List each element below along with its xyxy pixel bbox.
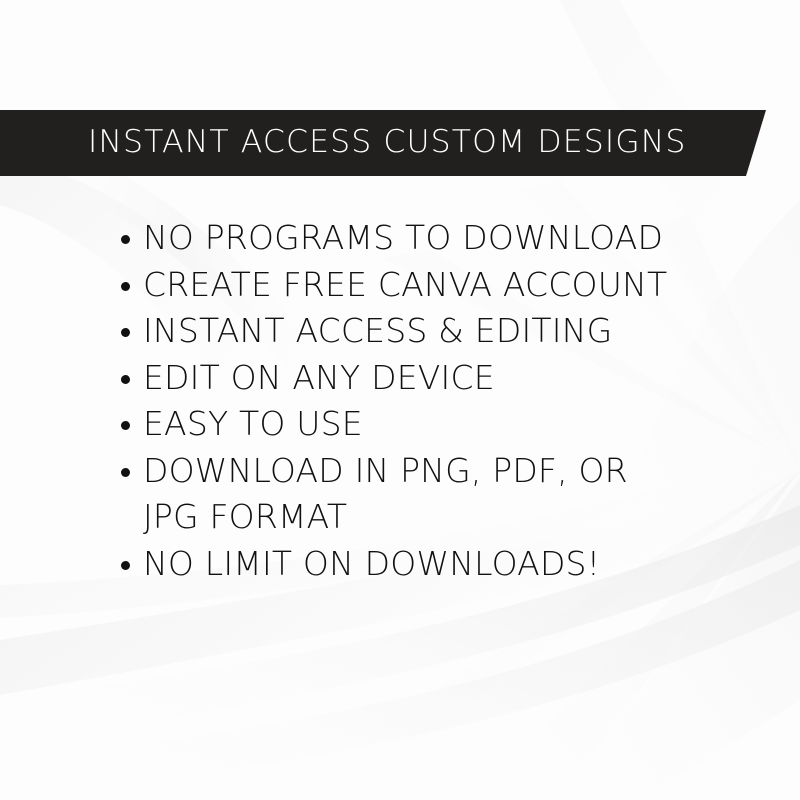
bullet-dot-icon bbox=[121, 235, 130, 244]
list-item-label: DOWNLOAD IN PNG, PDF, OR JPG FORMAT bbox=[143, 451, 628, 537]
feature-list: NO PROGRAMS TO DOWNLOAD CREATE FREE CANV… bbox=[118, 215, 758, 587]
bullet-dot-icon bbox=[121, 561, 130, 570]
list-item-label: NO LIMIT ON DOWNLOADS! bbox=[143, 544, 600, 583]
promo-graphic: INSTANT ACCESS CUSTOM DESIGNS NO PROGRAM… bbox=[0, 0, 800, 800]
list-item: INSTANT ACCESS & EDITING bbox=[118, 308, 758, 355]
list-item: CREATE FREE CANVA ACCOUNT bbox=[118, 262, 758, 309]
list-item: DOWNLOAD IN PNG, PDF, OR JPG FORMAT bbox=[118, 448, 663, 541]
list-item-label: EDIT ON ANY DEVICE bbox=[143, 358, 495, 397]
bullet-dot-icon bbox=[121, 328, 130, 337]
bullet-dot-icon bbox=[121, 468, 130, 477]
list-item-label: NO PROGRAMS TO DOWNLOAD bbox=[143, 218, 663, 257]
list-item: NO PROGRAMS TO DOWNLOAD bbox=[118, 215, 758, 262]
list-item: EDIT ON ANY DEVICE bbox=[118, 355, 758, 402]
list-item-label: EASY TO USE bbox=[143, 404, 363, 443]
list-item: NO LIMIT ON DOWNLOADS! bbox=[118, 541, 758, 588]
bullet-dot-icon bbox=[121, 421, 130, 430]
title-banner: INSTANT ACCESS CUSTOM DESIGNS bbox=[0, 110, 766, 176]
list-item: EASY TO USE bbox=[118, 401, 758, 448]
list-item-label: INSTANT ACCESS & EDITING bbox=[143, 311, 612, 350]
bullet-dot-icon bbox=[121, 375, 130, 384]
page-title: INSTANT ACCESS CUSTOM DESIGNS bbox=[88, 127, 687, 159]
bullet-dot-icon bbox=[121, 282, 130, 291]
list-item-label: CREATE FREE CANVA ACCOUNT bbox=[143, 265, 667, 304]
